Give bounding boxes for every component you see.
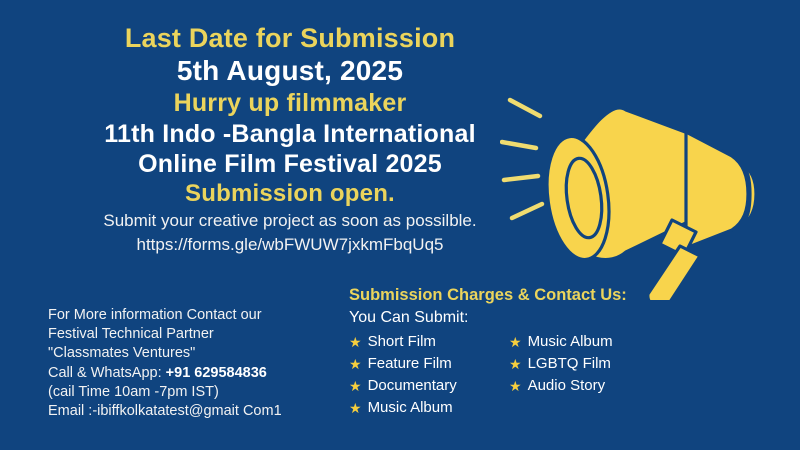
contact-line-info: For More information Contact our bbox=[48, 306, 348, 325]
contact-email[interactable]: Email :-ibiffkolkatatest@gmait Com1 bbox=[48, 402, 348, 419]
star-icon: ★ bbox=[509, 331, 522, 353]
list-item: ★ Documentary bbox=[349, 375, 509, 397]
list-item-label: Documentary bbox=[368, 375, 457, 397]
list-item: ★ Audio Story bbox=[509, 375, 613, 397]
list-item: ★ Music Album bbox=[509, 331, 613, 353]
contact-call-time: (cail Time 10am -7pm IST) bbox=[48, 383, 348, 402]
submissions-columns: ★ Short Film ★ Feature Film ★ Documentar… bbox=[349, 331, 679, 419]
contact-line-partner: Festival Technical Partner bbox=[48, 325, 348, 344]
list-item: ★ Short Film bbox=[349, 331, 509, 353]
list-item: ★ Feature Film bbox=[349, 353, 509, 375]
headline-festival-name-line2: Online Film Festival 2025 bbox=[0, 149, 580, 179]
list-item-label: Feature Film bbox=[368, 353, 452, 375]
poster-canvas: Last Date for Submission 5th August, 202… bbox=[0, 0, 800, 450]
contact-phone-number[interactable]: +91 629584836 bbox=[166, 365, 267, 381]
headline-festival-name-line1: 11th Indo -Bangla International bbox=[0, 119, 580, 149]
submissions-column-right: ★ Music Album ★ LGBTQ Film ★ Audio Story bbox=[509, 331, 613, 419]
list-item-label: Music Album bbox=[368, 397, 453, 419]
submissions-column-left: ★ Short Film ★ Feature Film ★ Documentar… bbox=[349, 331, 509, 419]
star-icon: ★ bbox=[349, 353, 362, 375]
list-item: ★ Music Album bbox=[349, 397, 509, 419]
list-item-label: Short Film bbox=[368, 331, 436, 353]
headline-hurry-up: Hurry up filmmaker bbox=[0, 88, 580, 119]
headline-block: Last Date for Submission 5th August, 202… bbox=[0, 22, 580, 257]
star-icon: ★ bbox=[349, 397, 362, 419]
star-icon: ★ bbox=[349, 375, 362, 397]
contact-phone-label: Call & WhatsApp: bbox=[48, 365, 166, 381]
submissions-block: Submission Charges & Contact Us: You Can… bbox=[349, 285, 679, 419]
list-item-label: Music Album bbox=[528, 331, 613, 353]
list-item-label: LGBTQ Film bbox=[528, 353, 611, 375]
list-item: ★ LGBTQ Film bbox=[509, 353, 613, 375]
star-icon: ★ bbox=[509, 353, 522, 375]
submissions-heading: Submission Charges & Contact Us: bbox=[349, 285, 679, 306]
contact-block: For More information Contact our Festiva… bbox=[48, 306, 348, 419]
headline-submission-open: Submission open. bbox=[0, 179, 580, 209]
list-item-label: Audio Story bbox=[528, 375, 606, 397]
contact-line-company: "Classmates Ventures" bbox=[48, 344, 348, 363]
star-icon: ★ bbox=[349, 331, 362, 353]
submission-form-link[interactable]: https://forms.gle/wbFWUW7jxkmFbqUq5 bbox=[0, 233, 580, 257]
submissions-subheading: You Can Submit: bbox=[349, 307, 679, 328]
headline-last-date: Last Date for Submission bbox=[0, 22, 580, 54]
headline-submit-note: Submit your creative project as soon as … bbox=[0, 209, 580, 233]
star-icon: ★ bbox=[509, 375, 522, 397]
headline-date: 5th August, 2025 bbox=[0, 54, 580, 88]
contact-phone-row: Call & WhatsApp: +91 629584836 bbox=[48, 364, 348, 383]
